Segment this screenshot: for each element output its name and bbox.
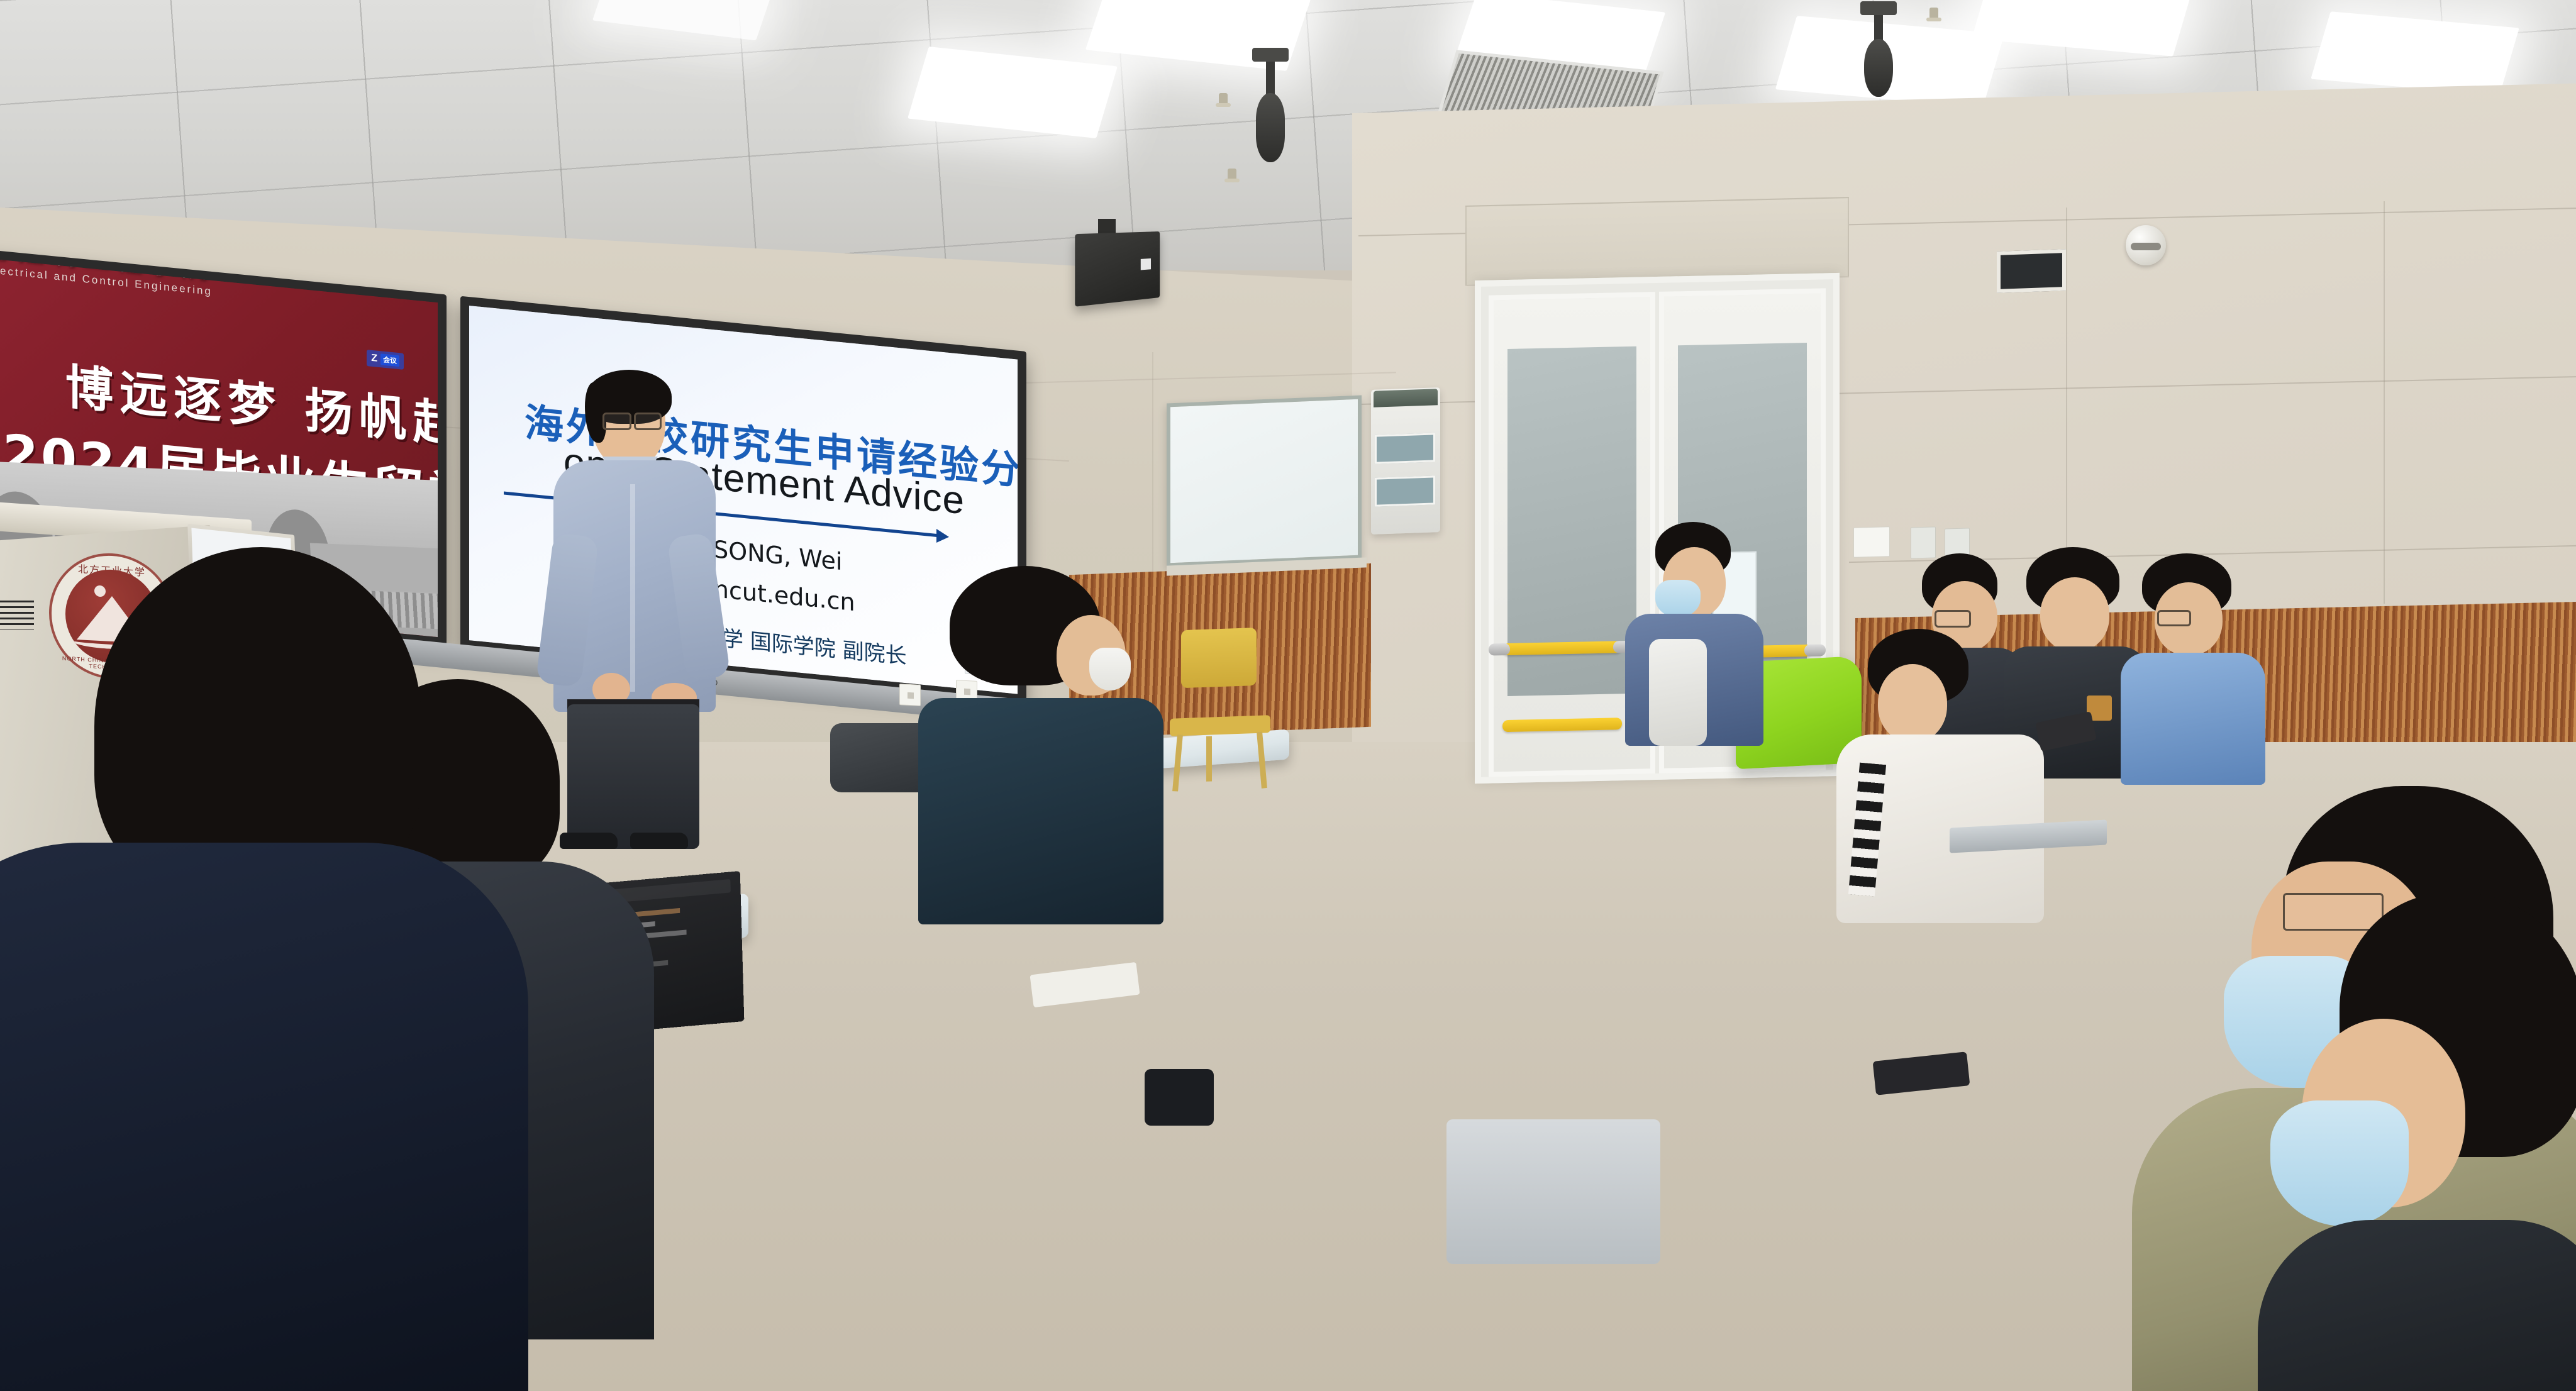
person-torso — [2121, 653, 2265, 785]
person-jacket — [2258, 1220, 2576, 1391]
hanging-speaker — [1874, 5, 1883, 43]
wall-panel-seam — [2384, 201, 2385, 604]
ac-display-panel — [1375, 475, 1435, 506]
door-push-bar-mount — [1804, 644, 1826, 657]
door-transom-panel — [1465, 197, 1849, 286]
desk-support-panel — [1446, 1119, 1660, 1264]
chair-seat — [1170, 715, 1270, 736]
audience-member — [2126, 553, 2258, 773]
presenter-glasses-left — [602, 413, 631, 430]
audience-member — [1849, 629, 2038, 924]
ac-vent-icon — [1374, 389, 1438, 407]
light-switch-panel[interactable] — [1853, 526, 1890, 558]
speaker-body — [1864, 39, 1893, 97]
audience-member — [931, 566, 1145, 918]
whiteboard — [1167, 396, 1362, 567]
zoom-badge-letter: Z — [371, 353, 377, 365]
presenter-glasses-right — [634, 413, 662, 430]
wall-panel-seam — [1152, 352, 1153, 591]
door-push-bar-left[interactable] — [1502, 641, 1622, 655]
bag — [1145, 1069, 1214, 1126]
jbl-logo-icon — [1141, 258, 1151, 270]
person-glasses — [1935, 610, 1971, 628]
chair-backrest — [1181, 628, 1257, 688]
zoom-meeting-badge: Z 会议 — [367, 350, 404, 370]
sprinkler-head-icon — [1929, 8, 1938, 20]
door-push-bar-lower[interactable] — [1502, 718, 1622, 732]
sprinkler-head-icon — [1228, 169, 1236, 181]
presenter-shirt-placket — [630, 484, 635, 692]
person-torso — [0, 843, 528, 1391]
jacket-inner-layer — [1649, 639, 1707, 746]
audience-member — [1629, 522, 1755, 729]
zoom-badge-chip: 会议 — [380, 353, 399, 367]
sprinkler-head-icon — [1219, 93, 1228, 106]
chair-leg — [1206, 736, 1212, 781]
foreground-audience-member — [0, 547, 522, 1391]
jbl-wall-speaker — [1075, 231, 1160, 307]
person-torso — [918, 698, 1163, 924]
wall-outlet[interactable] — [899, 684, 921, 706]
person-glasses — [2157, 610, 2191, 626]
air-conditioner-unit — [1371, 387, 1440, 535]
ac-display-panel — [1375, 433, 1435, 463]
speaker-mount — [1860, 1, 1897, 15]
person-head — [2040, 577, 2109, 651]
wall-info-screen — [1997, 249, 2066, 293]
face-mask — [1655, 580, 1701, 618]
classroom-photo-scene: 气与控制工程学院 ol of Electrical and Control En… — [0, 0, 2576, 1391]
presenter-hair-side — [585, 382, 606, 443]
speaker-body — [1256, 93, 1285, 162]
security-camera-icon — [2126, 225, 2166, 265]
person-head — [1878, 664, 1947, 742]
spare-wooden-chair[interactable] — [1170, 627, 1270, 782]
hanging-speaker — [1266, 52, 1275, 97]
face-mask — [1089, 648, 1131, 690]
wall-panel-seam — [2066, 208, 2067, 560]
foreground-audience-member — [2327, 893, 2576, 1391]
door-push-bar-mount — [1489, 643, 1510, 656]
speaker-mount — [1252, 48, 1289, 62]
